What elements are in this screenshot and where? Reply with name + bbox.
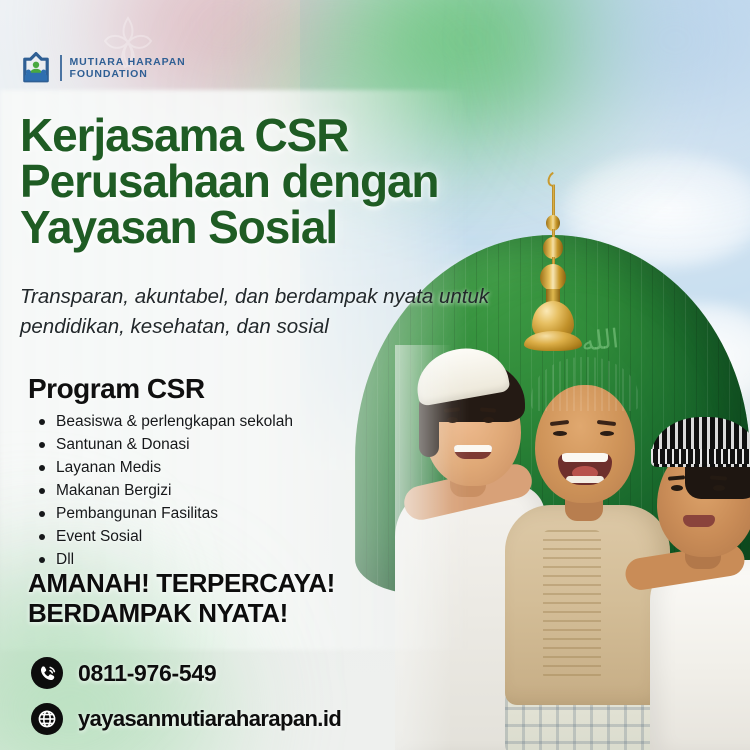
headline-line-2: Perusahaan dengan [20,158,580,204]
list-item: Pembangunan Fasilitas [36,502,366,525]
logo-name-line1: MUTIARA HARAPAN [70,56,186,69]
list-item: Layanan Medis [36,456,366,479]
contact-block: 0811-976-549 yayasanmutiaraharapan.id [30,650,341,742]
logo-divider [60,55,62,81]
list-item: Event Sosial [36,525,366,548]
tagline-line-2: BERDAMPAK NYATA! [28,598,335,628]
subtitle-line-1: Transparan, akuntabel, dan berdampak nya… [20,282,580,312]
logo-name-line2: FOUNDATION [70,68,186,81]
contact-website[interactable]: yayasanmutiaraharapan.id [30,696,341,742]
list-item: Makanan Bergizi [36,479,366,502]
headline-line-3: Yayasan Sosial [20,204,580,250]
mosque-people-logo-icon [20,52,52,84]
website-url: yayasanmutiaraharapan.id [78,706,341,732]
foundation-logo[interactable]: MUTIARA HARAPAN FOUNDATION [20,52,186,84]
headline-line-1: Kerjasama CSR [20,112,580,158]
list-item: Beasiswa & perlengkapan sekolah [36,410,366,433]
tagline-line-1: AMANAH! TERPERCAYA! [28,568,335,598]
phone-circle-icon [30,656,64,690]
program-section-title: Program CSR [28,373,205,405]
phone-number: 0811-976-549 [78,660,216,687]
subtitle: Transparan, akuntabel, dan berdampak nya… [20,282,580,342]
page-title: Kerjasama CSR Perusahaan dengan Yayasan … [20,112,580,250]
csr-partnership-poster: الله [0,0,750,750]
globe-circle-icon [30,702,64,736]
program-list: Beasiswa & perlengkapan sekolah Santunan… [36,410,366,571]
subtitle-line-2: pendidikan, kesehatan, dan sosial [20,312,580,342]
poster-content: MUTIARA HARAPAN FOUNDATION Kerjasama CSR… [0,0,750,750]
tagline: AMANAH! TERPERCAYA! BERDAMPAK NYATA! [28,568,335,628]
list-item: Santunan & Donasi [36,433,366,456]
logo-wordmark: MUTIARA HARAPAN FOUNDATION [70,56,186,81]
contact-phone[interactable]: 0811-976-549 [30,650,341,696]
